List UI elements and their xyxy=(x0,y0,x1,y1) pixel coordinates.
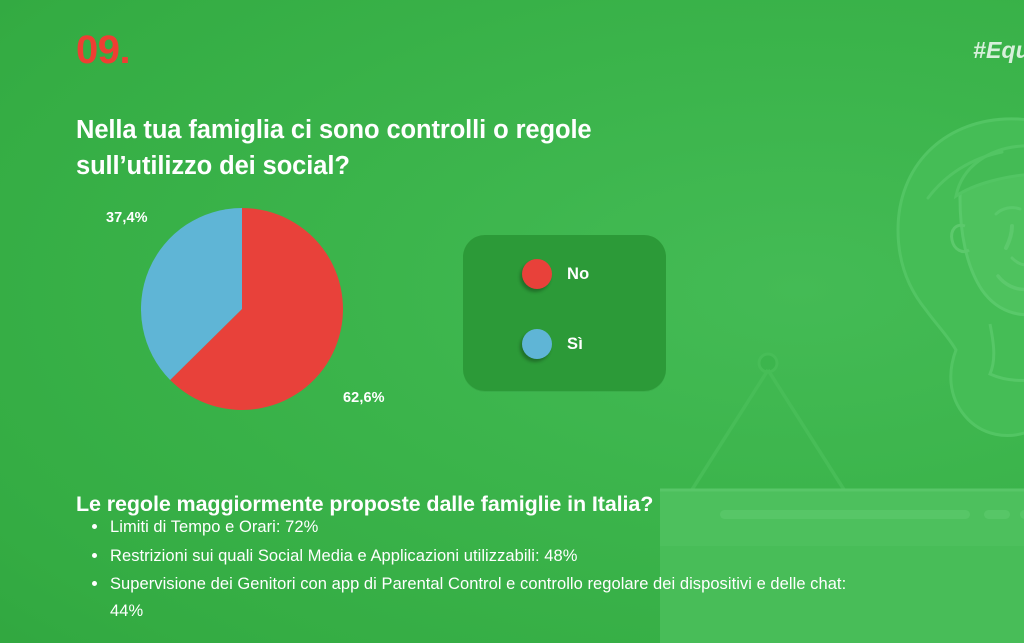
rules-list: Limiti di Tempo e Orari: 72% Restrizioni… xyxy=(78,514,868,627)
blue-circle-icon xyxy=(522,329,552,359)
legend-item-no[interactable]: No xyxy=(522,259,589,289)
list-item-label: Limiti di Tempo e Orari: 72% xyxy=(110,518,318,536)
list-item: Restrizioni sui quali Social Media e App… xyxy=(78,543,868,570)
chart-legend: No Sì xyxy=(463,235,666,391)
list-item-label: Restrizioni sui quali Social Media e App… xyxy=(110,547,577,565)
bullet-icon xyxy=(92,581,97,586)
pie-chart xyxy=(141,208,343,410)
pie-label-si: 37,4% xyxy=(106,210,148,226)
bullet-icon xyxy=(92,524,97,529)
girl-figure-icon xyxy=(898,119,1024,436)
slide-number: 09. xyxy=(76,30,130,70)
legend-item-label: No xyxy=(567,265,589,284)
list-item-label: Supervisione dei Genitori con app di Par… xyxy=(110,575,846,620)
campaign-hashtag: #Equ xyxy=(973,37,1024,64)
legend-item-label: Sì xyxy=(567,335,583,354)
bullet-icon xyxy=(92,553,97,558)
legend-item-si[interactable]: Sì xyxy=(522,329,583,359)
pie-label-no: 62,6% xyxy=(343,390,385,406)
board-hanger-icon xyxy=(688,354,848,496)
infographic-slide: 09. #Equ Nella tua famiglia ci sono cont… xyxy=(0,0,1024,643)
red-circle-icon xyxy=(522,259,552,289)
page-title: Nella tua famiglia ci sono controlli o r… xyxy=(76,112,696,184)
list-item: Supervisione dei Genitori con app di Par… xyxy=(78,571,868,624)
list-item: Limiti di Tempo e Orari: 72% xyxy=(78,514,868,541)
